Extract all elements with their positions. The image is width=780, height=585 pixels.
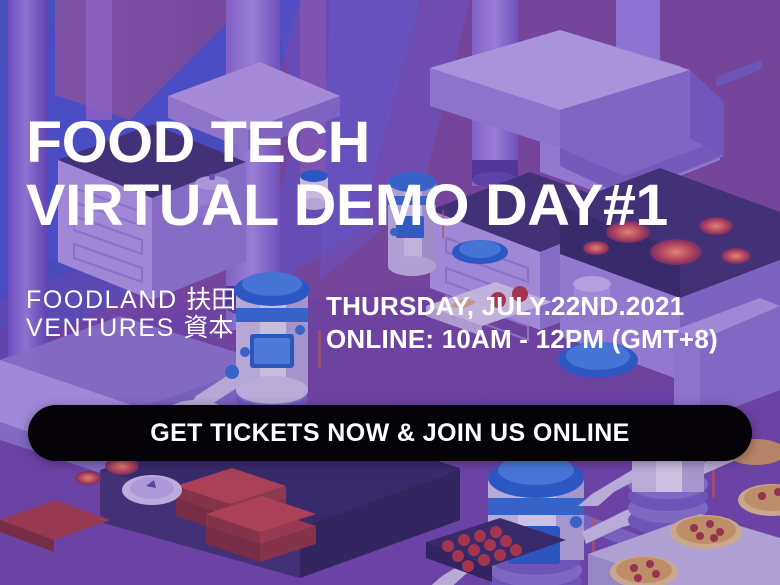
brand-logo-line-2: VENTURES 資本 <box>26 314 236 342</box>
event-poster: FOOD TECH VIRTUAL DEMO DAY#1 FOODLAND 扶田… <box>0 0 780 585</box>
page-title: FOOD TECH VIRTUAL DEMO DAY#1 <box>26 115 780 235</box>
event-details: THURSDAY, JULY.22ND.2021 ONLINE: 10AM - … <box>326 290 718 355</box>
event-time: ONLINE: 10AM - 12PM (GMT+8) <box>326 323 718 356</box>
brand-logo: FOODLAND 扶田 VENTURES 資本 <box>26 286 236 342</box>
event-date: THURSDAY, JULY.22ND.2021 <box>326 290 718 323</box>
headline-line-2: VIRTUAL DEMO DAY#1 <box>26 178 780 235</box>
get-tickets-button-label: GET TICKETS NOW & JOIN US ONLINE <box>150 419 630 448</box>
brand-logo-line-1: FOODLAND 扶田 <box>26 286 236 314</box>
brand-name-latin-1: FOODLAND <box>26 286 178 314</box>
headline-line-1: FOOD TECH <box>26 115 780 172</box>
brand-name-cjk-1: 扶田 <box>186 286 236 314</box>
brand-name-cjk-2: 資本 <box>183 314 233 342</box>
poster-content: FOOD TECH VIRTUAL DEMO DAY#1 FOODLAND 扶田… <box>0 0 780 585</box>
brand-name-latin-2: VENTURES <box>26 314 175 342</box>
get-tickets-button[interactable]: GET TICKETS NOW & JOIN US ONLINE <box>28 405 752 461</box>
